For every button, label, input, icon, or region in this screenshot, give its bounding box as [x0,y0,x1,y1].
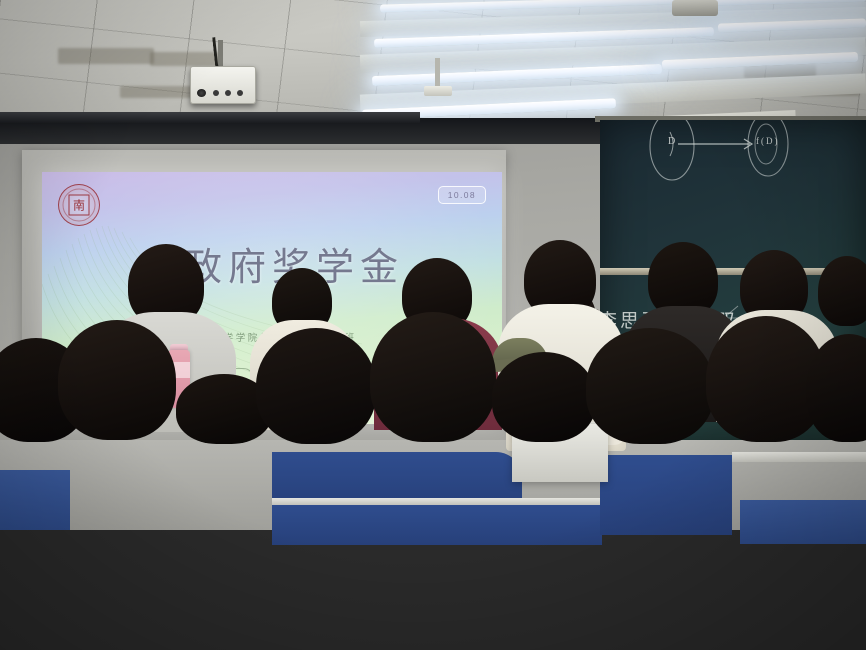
audience-head [492,352,596,442]
slide-date-badge: 10.08 [438,186,486,204]
projector-knob [213,90,219,96]
ceiling-speaker [672,0,718,16]
ceiling [0,0,866,128]
projector-lens-icon [197,89,206,97]
projector [190,66,256,104]
audience-head [818,256,866,326]
projector-knob [237,90,243,96]
projector-knob [225,90,231,96]
seal-character: 南 [69,195,90,216]
board-mapping-domain-label: D [668,136,677,147]
classroom-scene: A+ε A A-ε x y -X D f(D) 李思雨 李以双 |f(x)-A|… [0,0,866,650]
ceiling-stain [58,48,154,64]
light-mount-base [424,86,452,96]
university-seal-icon: 南 [58,184,100,226]
audience-head [58,320,176,440]
audience-head [370,312,496,442]
light-mount-pole [435,58,440,88]
ceiling-stain [120,86,200,98]
audience-head [586,328,714,444]
screen-roller-track [0,112,420,124]
board-mapping-range-label: f(D) [756,136,780,146]
ceiling-stain [150,52,220,66]
audience [0,440,866,650]
audience-head [256,328,376,444]
